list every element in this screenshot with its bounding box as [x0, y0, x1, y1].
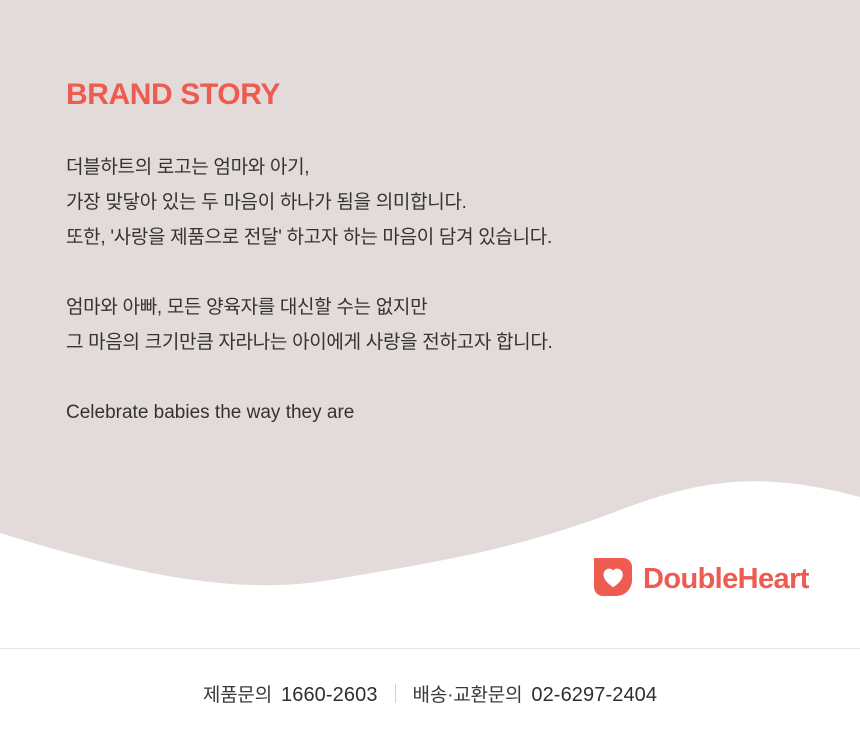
copy-line: 엄마와 아빠, 모든 양육자를 대신할 수는 없지만	[66, 290, 786, 325]
delivery-inquiry-number[interactable]: 02-6297-2404	[531, 684, 657, 707]
hero-section: BRAND STORY 더블하트의 로고는 엄마와 아기, 가장 맞닿아 있는 …	[0, 0, 860, 600]
page-title: BRAND STORY	[66, 78, 280, 111]
delivery-inquiry: 배송·교환문의 02-6297-2404	[413, 680, 658, 707]
footer-separator	[395, 684, 396, 703]
copy-spacer	[66, 255, 786, 290]
delivery-inquiry-label: 배송·교환문의	[413, 680, 523, 707]
brand-story-page: BRAND STORY 더블하트의 로고는 엄마와 아기, 가장 맞닿아 있는 …	[0, 0, 860, 738]
copy-spacer	[66, 360, 786, 395]
footer-contact-inner: 제품문의 1660-2603 배송·교환문의 02-6297-2404	[203, 680, 657, 707]
hero-content: BRAND STORY 더블하트의 로고는 엄마와 아기, 가장 맞닿아 있는 …	[0, 0, 860, 600]
product-inquiry-label: 제품문의	[203, 680, 272, 707]
brand-story-copy: 더블하트의 로고는 엄마와 아기, 가장 맞닿아 있는 두 마음이 하나가 됨을…	[66, 150, 786, 430]
tagline: Celebrate babies the way they are	[66, 395, 786, 430]
product-inquiry: 제품문의 1660-2603	[203, 680, 378, 707]
copy-line: 그 마음의 크기만큼 자라나는 아이에게 사랑을 전하고자 합니다.	[66, 325, 786, 360]
doubleheart-logo: DoubleHeart	[594, 558, 823, 598]
copy-paragraph-1: 더블하트의 로고는 엄마와 아기, 가장 맞닿아 있는 두 마음이 하나가 됨을…	[66, 150, 786, 255]
footer-contact-bar: 제품문의 1660-2603 배송·교환문의 02-6297-2404	[0, 649, 860, 738]
doubleheart-heart-mark-icon	[594, 558, 632, 598]
copy-line: 더블하트의 로고는 엄마와 아기,	[66, 150, 786, 185]
doubleheart-wordmark: DoubleHeart	[643, 561, 823, 595]
svg-text:DoubleHeart: DoubleHeart	[643, 563, 810, 595]
product-inquiry-number[interactable]: 1660-2603	[281, 684, 378, 707]
copy-paragraph-2: 엄마와 아빠, 모든 양육자를 대신할 수는 없지만 그 마음의 크기만큼 자라…	[66, 290, 786, 360]
copy-line: 가장 맞닿아 있는 두 마음이 하나가 됨을 의미합니다.	[66, 185, 786, 220]
copy-line: 또한, '사랑을 제품으로 전달' 하고자 하는 마음이 담겨 있습니다.	[66, 220, 786, 255]
